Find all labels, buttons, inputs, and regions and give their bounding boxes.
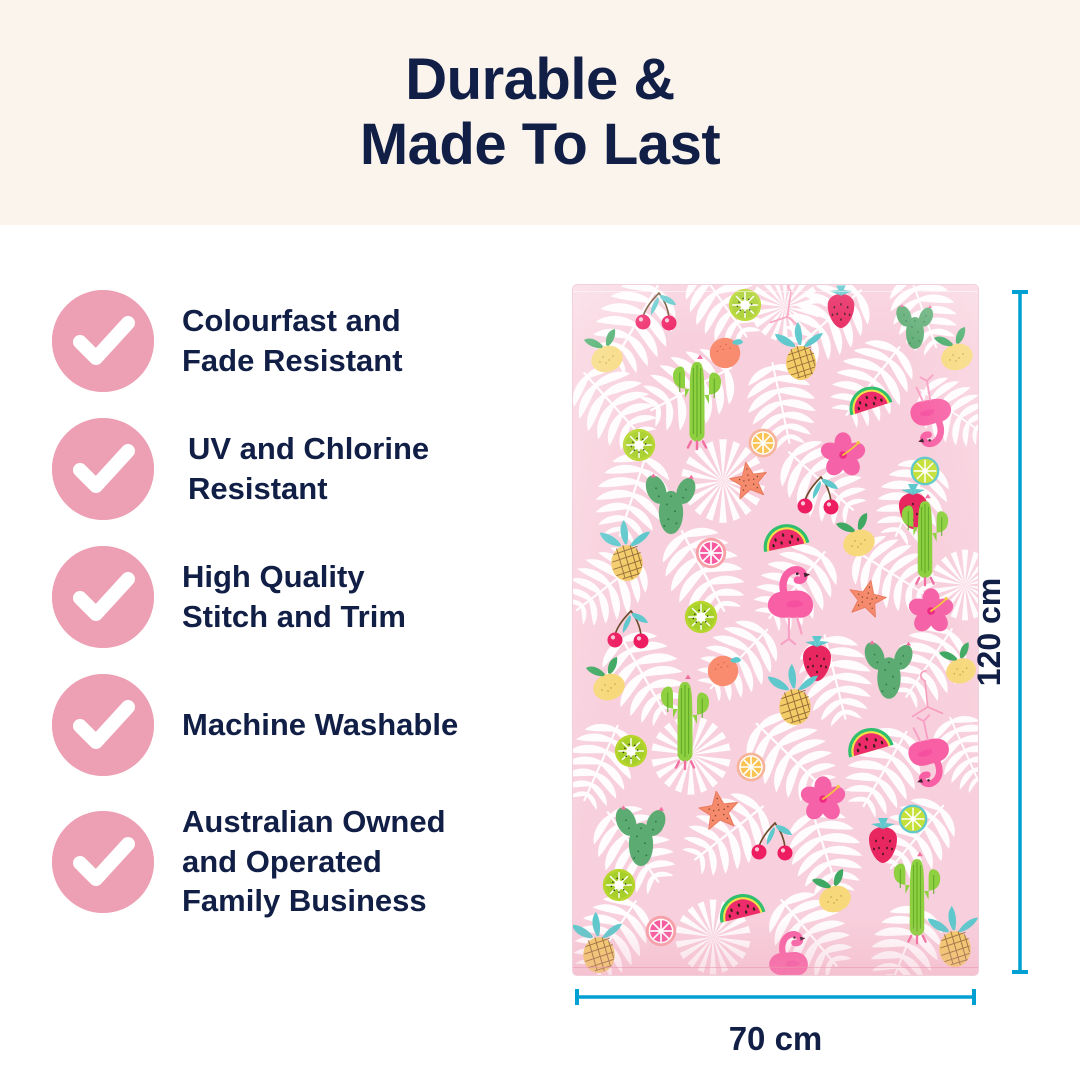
infographic-root: Durable & Made To Last Colourfast and Fa… bbox=[0, 0, 1080, 1080]
check-icon bbox=[52, 290, 154, 392]
list-item: High Quality Stitch and Trim bbox=[52, 546, 552, 648]
beach-towel bbox=[573, 285, 978, 975]
feature-label: Australian Owned and Operated Family Bus… bbox=[182, 802, 446, 921]
list-item: Australian Owned and Operated Family Bus… bbox=[52, 802, 552, 921]
dimension-width-label: 70 cm bbox=[573, 1020, 978, 1058]
feature-label: Colourfast and Fade Resistant bbox=[182, 301, 403, 380]
feature-label: Machine Washable bbox=[182, 705, 458, 745]
check-icon bbox=[52, 418, 154, 520]
feature-label: High Quality Stitch and Trim bbox=[182, 557, 406, 636]
dimension-width bbox=[573, 985, 978, 1009]
dimension-height: 120 cm bbox=[1010, 288, 1040, 976]
feature-list: Colourfast and Fade Resistant UV and Chl… bbox=[52, 290, 552, 947]
list-item: Machine Washable bbox=[52, 674, 552, 776]
product-image bbox=[573, 285, 978, 975]
check-icon bbox=[52, 546, 154, 648]
header-banner: Durable & Made To Last bbox=[0, 0, 1080, 225]
page-title: Durable & Made To Last bbox=[360, 48, 720, 178]
check-icon bbox=[52, 674, 154, 776]
feature-label: UV and Chlorine Resistant bbox=[182, 429, 429, 508]
list-item: UV and Chlorine Resistant bbox=[52, 418, 552, 520]
list-item: Colourfast and Fade Resistant bbox=[52, 290, 552, 392]
check-icon bbox=[52, 811, 154, 913]
dimension-height-label: 120 cm bbox=[971, 578, 1008, 687]
